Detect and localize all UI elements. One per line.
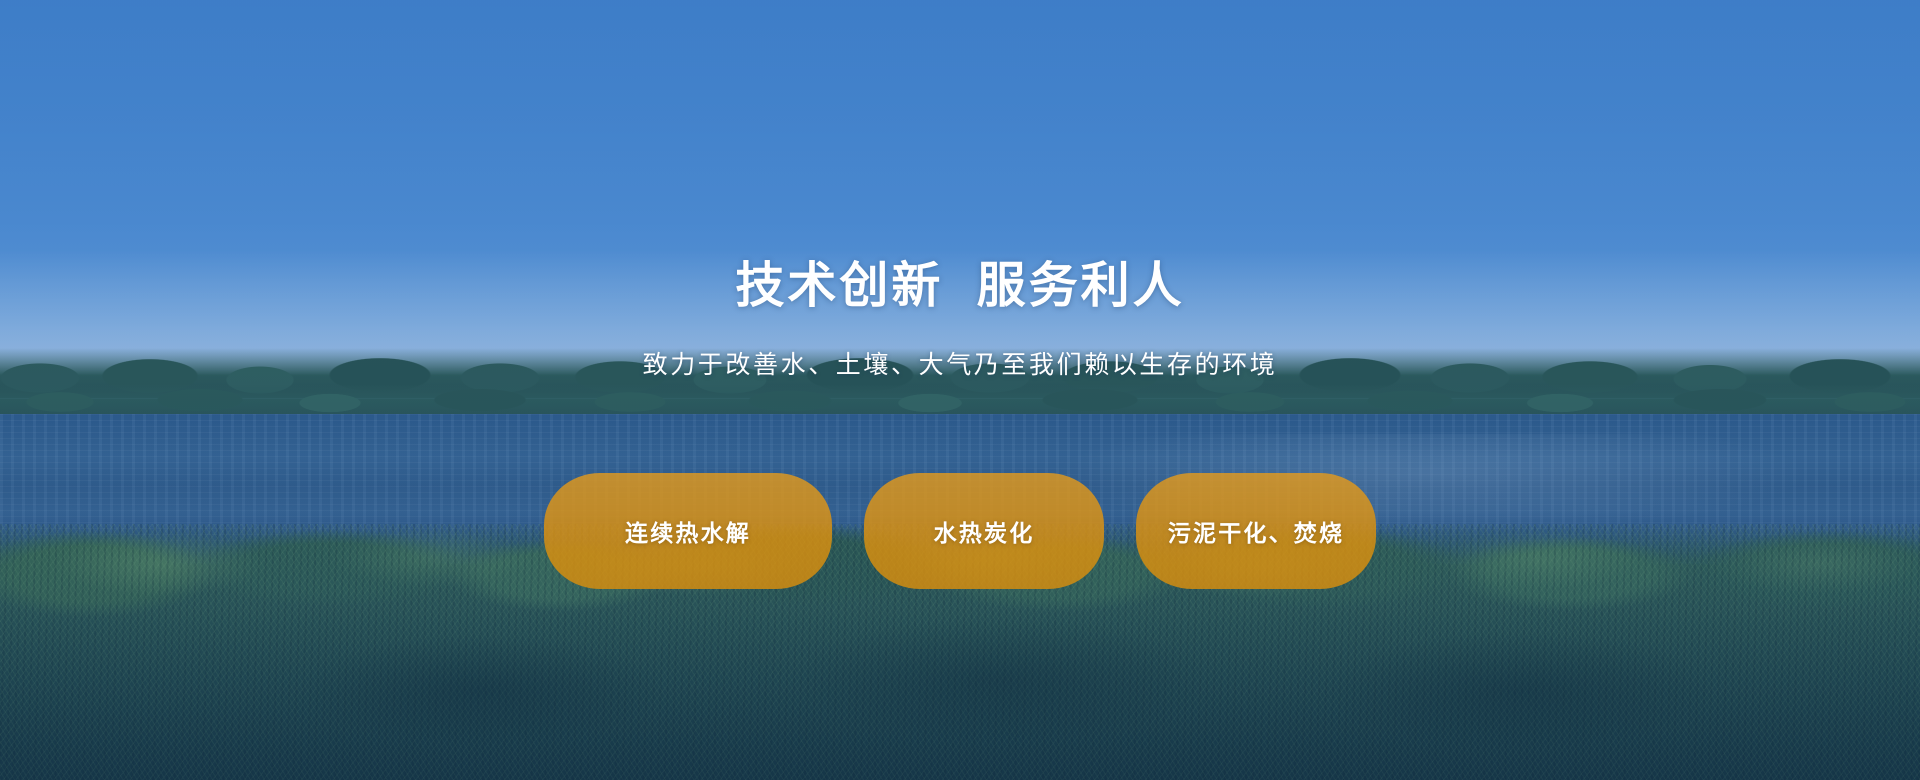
category-button-label: 水热炭化 (934, 514, 1035, 548)
hero-banner: 技术创新 服务利人 致力于改善水、土壤、大气乃至我们赖以生存的环境 连续热水解 … (0, 0, 1920, 780)
page-title: 技术创新 服务利人 (0, 258, 1920, 316)
category-button-hydrothermal-carbonization[interactable]: 水热炭化 (864, 473, 1104, 589)
category-button-sludge-drying-incineration[interactable]: 污泥干化、焚烧 (1136, 473, 1376, 589)
category-button-label: 污泥干化、焚烧 (1168, 514, 1344, 548)
category-button-label: 连续热水解 (625, 514, 751, 548)
hero-content: 技术创新 服务利人 致力于改善水、土壤、大气乃至我们赖以生存的环境 连续热水解 … (0, 0, 1920, 780)
page-subtitle: 致力于改善水、土壤、大气乃至我们赖以生存的环境 (0, 345, 1920, 381)
category-button-continuous-thermal-hydrolysis[interactable]: 连续热水解 (544, 473, 832, 589)
category-button-row: 连续热水解 水热炭化 污泥干化、焚烧 (0, 473, 1920, 589)
